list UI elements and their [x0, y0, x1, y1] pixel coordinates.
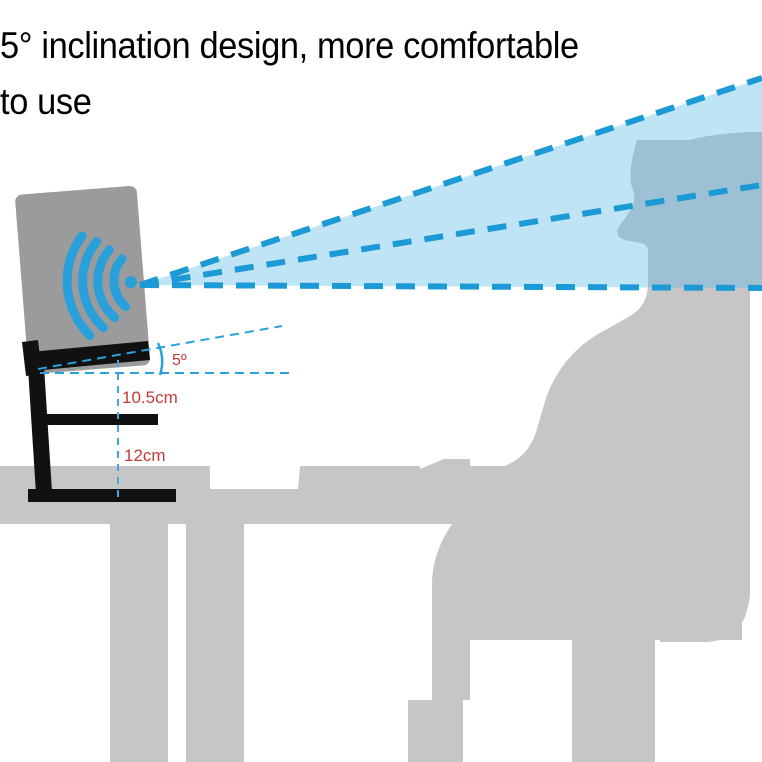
stand-middle-arm — [36, 414, 158, 425]
stand-base — [28, 489, 176, 502]
infographic-canvas: 5° inclination design, more comfortable … — [0, 0, 762, 762]
chair-seat — [438, 548, 742, 640]
desk-leg-left — [110, 524, 168, 762]
chair-pedestal — [572, 640, 606, 762]
desk-edge-right — [196, 502, 210, 560]
measurement-label-upper: 10.5cm — [122, 388, 178, 408]
desk-leg-right — [186, 524, 244, 762]
angle-label-5deg: 5º — [172, 352, 187, 370]
measurement-label-lower: 12cm — [124, 446, 166, 466]
page-title: 5° inclination design, more comfortable … — [0, 18, 709, 130]
